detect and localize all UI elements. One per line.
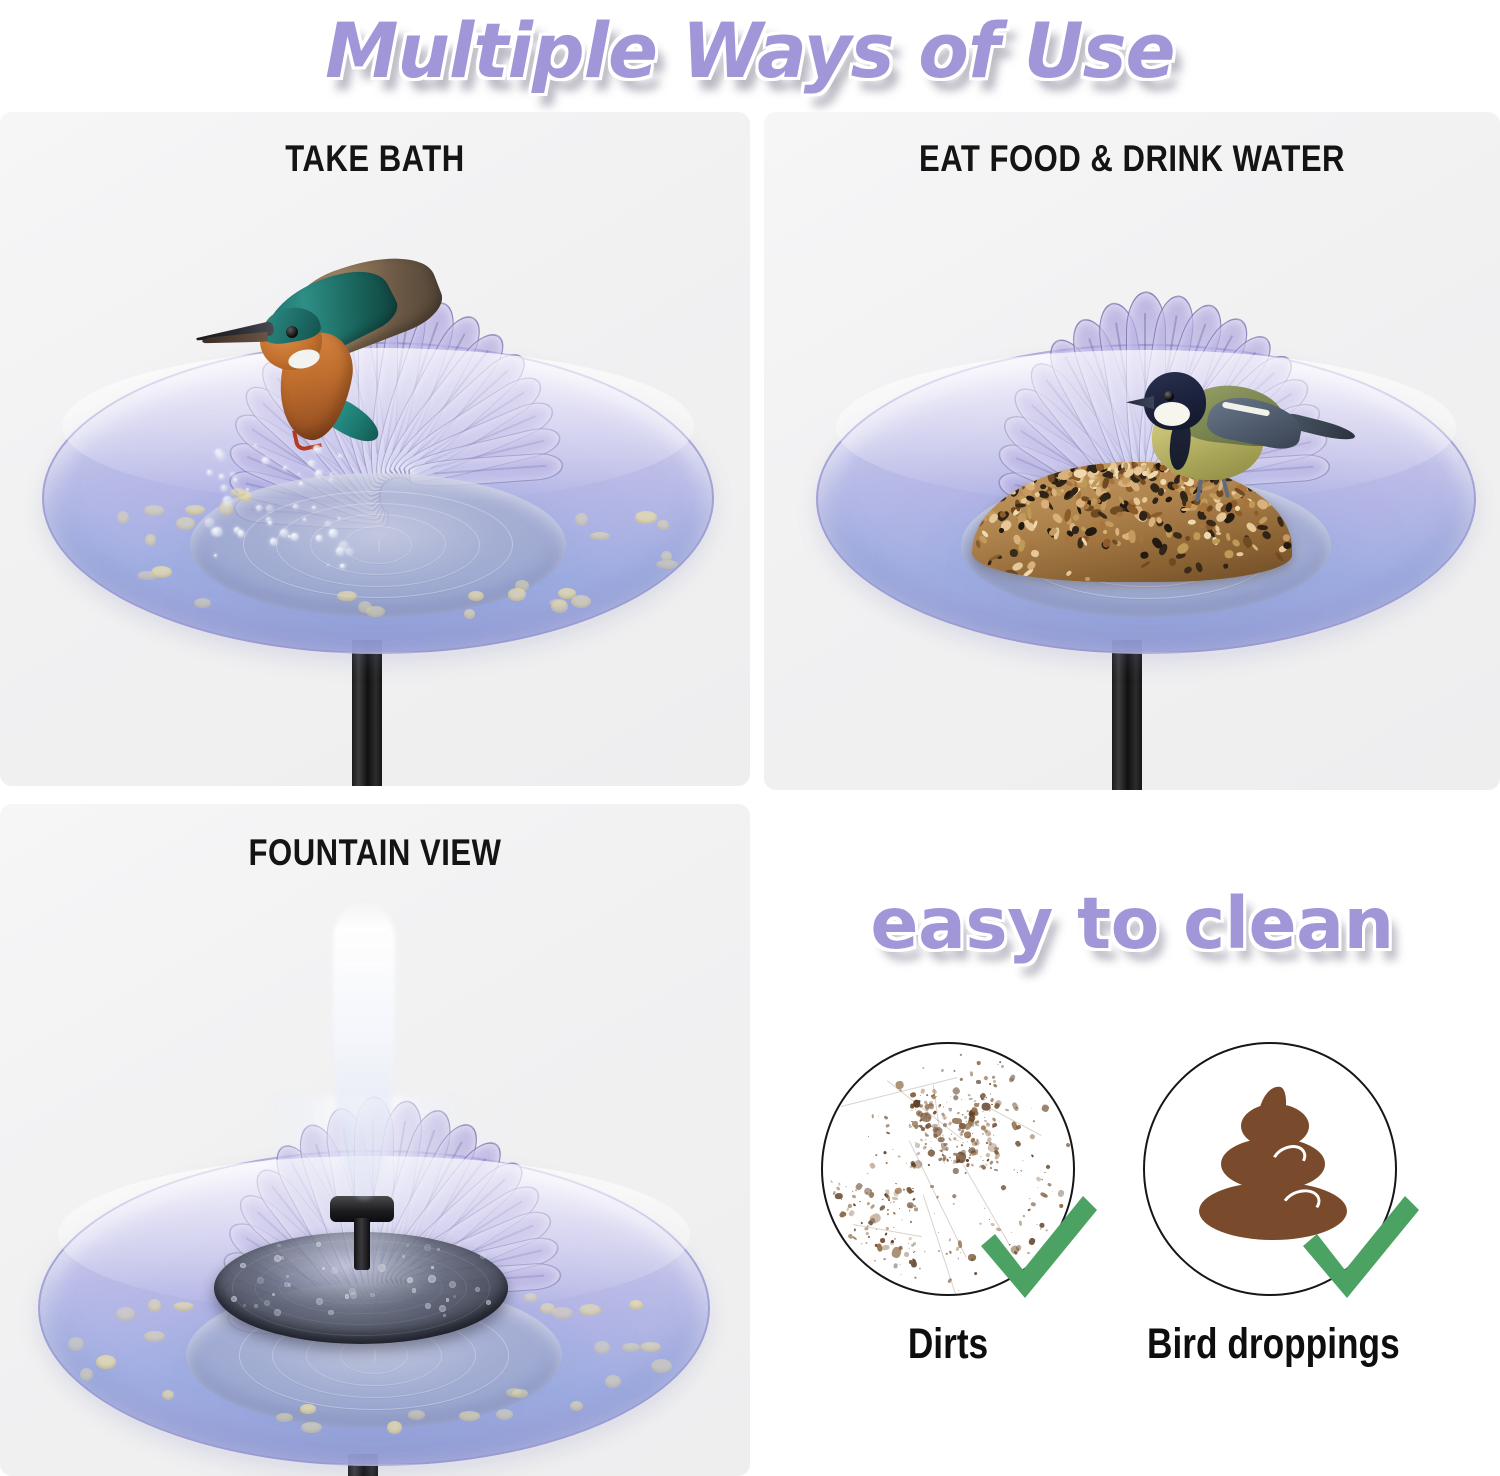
dirt-speck [951, 1193, 957, 1199]
dirt-speck [934, 1213, 935, 1214]
bowl-pebble [301, 1422, 322, 1433]
dirt-speck [994, 1083, 999, 1087]
seed [1072, 513, 1080, 521]
dirt-speck [830, 1181, 833, 1184]
dirt-speck [990, 1167, 992, 1169]
dirt-speck [893, 1263, 898, 1269]
seed [1071, 525, 1079, 534]
dirt-speck [952, 1152, 959, 1156]
dirt-speck [991, 1125, 994, 1128]
dirt-speck [1022, 1160, 1024, 1162]
dirt-speck [970, 1071, 974, 1076]
dirt-speck [924, 1251, 925, 1253]
dirt-speck [982, 1133, 984, 1135]
dirt-speck [864, 1241, 867, 1244]
dirt-speck [880, 1238, 886, 1244]
dirt-speck [972, 1133, 974, 1135]
dirt-speck [912, 1198, 916, 1202]
dirt-speck [848, 1210, 855, 1217]
water-droplet [338, 517, 340, 519]
dirt-speck [977, 1061, 981, 1065]
bowl-pebble [657, 520, 669, 530]
bowl-pebble [661, 551, 672, 562]
dirt-speck [953, 1070, 956, 1073]
water-droplet [217, 452, 226, 461]
dirt-speck [874, 1259, 876, 1261]
dirt-speck [919, 1268, 921, 1270]
dirt-scratch [922, 1194, 957, 1294]
seed [1116, 511, 1124, 517]
dirt-speck [960, 1053, 963, 1055]
bowl-pebble [194, 598, 211, 608]
bowl-pebble [551, 600, 568, 613]
water-bubble [350, 1292, 357, 1299]
dirt-speck [983, 1116, 985, 1118]
bowl-pebble [579, 1304, 601, 1316]
dirt-speck [993, 1135, 994, 1136]
dirt-speck [951, 1086, 961, 1096]
bowl-pebble [358, 601, 372, 613]
dirt-speck [838, 1183, 841, 1186]
water-droplet [283, 466, 287, 470]
seed [1095, 486, 1102, 495]
dirt-speck [860, 1243, 862, 1245]
dirt-speck [898, 1155, 901, 1158]
page-title-text: Multiple Ways of Use [325, 6, 1174, 95]
seed [1051, 511, 1064, 524]
bowl-pebble [68, 1337, 84, 1351]
dirt-speck [922, 1067, 925, 1070]
dirt-speck [899, 1273, 901, 1275]
dirt-speck [920, 1095, 921, 1096]
seed [1198, 523, 1204, 529]
clean-label-dirts: Dirts [825, 1320, 1071, 1369]
bowl-pebble [496, 1409, 513, 1420]
dirt-speck [1044, 1172, 1046, 1173]
dirt-speck [899, 1208, 900, 1209]
dirt-speck [1031, 1108, 1032, 1109]
dirt-speck [948, 1121, 953, 1126]
water-bubble [240, 1263, 246, 1269]
seed [1216, 532, 1222, 536]
seed [1265, 551, 1274, 557]
dirt-speck [868, 1191, 875, 1199]
dirt-speck [866, 1173, 868, 1175]
seed [1091, 535, 1100, 544]
scene-fountain-view [0, 804, 750, 1476]
dirt-speck [909, 1237, 912, 1240]
dirt-speck [841, 1199, 842, 1200]
dirt-speck [1032, 1119, 1035, 1122]
dirt-speck [941, 1069, 944, 1072]
seed [1114, 528, 1119, 536]
dirt-speck [924, 1132, 927, 1136]
dirt-speck [887, 1209, 889, 1211]
bowl-pebble [629, 1300, 642, 1310]
dirt-speck [903, 1251, 909, 1257]
dirt-speck [950, 1096, 951, 1097]
dirt-speck [983, 1075, 988, 1080]
seed [1225, 533, 1231, 542]
dirt-speck [969, 1157, 971, 1159]
dirt-speck [853, 1229, 855, 1233]
water-droplet [312, 506, 315, 509]
dirt-speck [868, 1235, 870, 1237]
water-bubble [254, 1304, 258, 1308]
dirt-speck [908, 1243, 910, 1245]
dirt-speck [967, 1141, 969, 1143]
panel-title-eat-drink: EAT FOOD & DRINK WATER [823, 138, 1441, 180]
dirt-speck [963, 1116, 967, 1120]
panel-title-take-bath: TAKE BATH [60, 138, 690, 180]
dirt-speck [918, 1124, 922, 1127]
dirt-speck [957, 1290, 959, 1292]
clean-item-bird-droppings: Bird droppings [1120, 1042, 1420, 1369]
seed [1282, 534, 1291, 542]
water-droplet [270, 538, 277, 545]
bowl-pebble [575, 513, 589, 526]
water-droplet [338, 454, 342, 458]
dirt-speck [886, 1131, 891, 1134]
dirt-speck [951, 1160, 952, 1161]
dirt-speck [937, 1232, 939, 1233]
dirt-speck [882, 1198, 884, 1200]
dirt-speck [968, 1094, 971, 1097]
seed [1194, 532, 1201, 541]
scene-take-bath [0, 112, 750, 786]
seed [1009, 548, 1017, 557]
dirt-speck [927, 1134, 929, 1136]
seed [1139, 530, 1143, 543]
seed [1105, 520, 1115, 528]
bowl-pebble [524, 1293, 537, 1302]
dirt-speck [893, 1201, 896, 1204]
dirt-speck [901, 1219, 903, 1221]
seed [1237, 552, 1244, 557]
dirt-speck [945, 1101, 947, 1102]
bowl-pebble [551, 1307, 573, 1319]
water-droplet [330, 472, 334, 476]
dirt-speck [846, 1207, 849, 1211]
bowl-pebble [558, 588, 576, 599]
seed [1195, 562, 1204, 573]
water-droplet [234, 478, 237, 481]
dirt-speck [908, 1247, 910, 1249]
seed [1018, 540, 1026, 553]
water-droplet [205, 518, 214, 527]
dirt-speck [878, 1116, 879, 1118]
bowl-pebble [387, 1421, 402, 1434]
dirt-speck [845, 1185, 847, 1187]
seed [1251, 544, 1259, 552]
seed [998, 527, 1004, 532]
dirt-speck [852, 1190, 853, 1192]
dirt-speck [915, 1277, 917, 1279]
dirt-speck [1011, 1101, 1019, 1111]
dirt-speck [836, 1186, 841, 1191]
page-title: Multiple Ways of Use [0, 0, 1500, 100]
dirt-speck [946, 1253, 948, 1255]
dirt-speck [1045, 1164, 1051, 1170]
dirt-speck [976, 1080, 981, 1084]
dirt-speck [926, 1094, 928, 1096]
great-tit-cheek-patch [1154, 402, 1190, 426]
bowl-pebble [464, 609, 475, 619]
dirt-speck [865, 1228, 869, 1231]
bowl-pebble [408, 1410, 426, 1419]
seed [1183, 565, 1193, 574]
dirt-speck [851, 1194, 856, 1198]
dirt-speck [871, 1115, 873, 1119]
seed [1212, 538, 1221, 545]
bowl-pebble [162, 1390, 174, 1400]
water-bubble [328, 1310, 334, 1316]
water-bubble [316, 1298, 323, 1305]
dirt-speck [982, 1160, 984, 1161]
dirt-speck [910, 1103, 914, 1108]
bowl-pebble [96, 1355, 116, 1369]
dirt-speck [1005, 1108, 1009, 1111]
dirt-speck [868, 1136, 870, 1137]
water-bubble [412, 1288, 416, 1292]
dirt-speck [996, 1160, 999, 1163]
dirt-speck [893, 1237, 895, 1239]
great-tit-eye [1164, 391, 1174, 401]
dirt-speck [969, 1098, 973, 1100]
dirt-speck [1000, 1185, 1007, 1192]
dirt-speck [927, 1115, 929, 1118]
bowl-pebble [459, 1411, 481, 1420]
dirt-speck [949, 1157, 951, 1158]
water-bubble [428, 1275, 436, 1283]
green-check-icon [975, 1194, 1101, 1300]
water-droplet [266, 505, 273, 512]
seed [1085, 577, 1090, 581]
seed [1261, 530, 1272, 541]
dirt-speck [1031, 1154, 1034, 1158]
bowl-pebble [176, 517, 196, 531]
bowl-pebble [144, 505, 164, 515]
green-check-icon [1297, 1194, 1423, 1300]
dirt-speck [990, 1104, 993, 1106]
seed [1128, 530, 1136, 543]
dirt-speck [960, 1078, 964, 1082]
clean-label-bird-droppings: Bird droppings [1147, 1320, 1393, 1369]
water-bubble [439, 1305, 446, 1312]
bowl-pebble [173, 1302, 194, 1311]
dirt-speck [910, 1110, 912, 1112]
water-droplet [280, 529, 288, 537]
dirt-speck [989, 1160, 994, 1165]
water-droplet [262, 457, 269, 464]
dirt-speck [925, 1139, 927, 1141]
water-droplet [221, 485, 227, 491]
dirt-speck [892, 1148, 894, 1149]
seed [1230, 538, 1240, 548]
dirt-speck [944, 1142, 948, 1145]
water-bubble [272, 1293, 275, 1296]
dirt-speck [1037, 1187, 1039, 1188]
seed [975, 540, 981, 549]
seed [1140, 551, 1149, 558]
dirt-speck [1041, 1103, 1050, 1112]
bowl-pebble [651, 1359, 672, 1373]
bowl-pebble [508, 588, 526, 600]
seed [1173, 531, 1183, 539]
dirt-speck [870, 1204, 876, 1210]
dirt-speck [998, 1121, 1000, 1123]
dirt-speck [957, 1140, 959, 1141]
dirt-speck [1047, 1183, 1052, 1188]
bowl-pebble [117, 511, 129, 523]
seed [987, 565, 995, 569]
dirt-speck [914, 1143, 920, 1149]
seed [1258, 515, 1268, 524]
water-bubble [274, 1309, 280, 1315]
easy-clean-title: easy to clean [764, 882, 1500, 965]
seed [1140, 561, 1151, 569]
bowl-pebble [116, 1307, 135, 1320]
dirt-speck [985, 1097, 988, 1100]
seed [1081, 495, 1089, 501]
seed [1222, 563, 1229, 569]
dirt-speck [965, 1158, 969, 1162]
bowl-pebble [622, 1343, 640, 1352]
dirt-speck [971, 1164, 974, 1167]
dirt-speck [885, 1189, 890, 1195]
bowl-pebble [468, 591, 485, 602]
water-droplet [315, 470, 322, 477]
bowl-pebble [151, 566, 173, 579]
dirt-speck [913, 1251, 916, 1254]
dirt-speck [930, 1141, 932, 1143]
dirt-speck [943, 1106, 945, 1108]
water-droplet [266, 517, 271, 522]
easy-clean-section: easy to clean Dirts [764, 804, 1500, 1476]
dirt-speck [860, 1221, 862, 1223]
dirt-speck [869, 1162, 876, 1170]
bowl-pebble [145, 534, 157, 547]
seed [1253, 511, 1258, 516]
dirt-speck [990, 1093, 992, 1095]
water-droplet [308, 460, 315, 467]
bowl-pebble [276, 1413, 293, 1421]
bowl-pebble [148, 1299, 161, 1311]
scene-eat-drink [764, 112, 1500, 790]
dirt-speck [993, 1169, 997, 1172]
dirt-speck [952, 1094, 959, 1101]
dirt-speck [892, 1211, 896, 1215]
dirt-speck [960, 1252, 962, 1254]
dirt-speck [997, 1064, 999, 1065]
seed [1030, 549, 1040, 558]
dirt-speck [886, 1162, 888, 1164]
dirt-speck [894, 1182, 896, 1184]
bowl-pebble [594, 1341, 609, 1354]
water-droplet [291, 533, 298, 540]
dirt-speck [894, 1187, 902, 1194]
dirt-speck [980, 1155, 982, 1157]
dirt-speckles-circle-icon [821, 1042, 1075, 1296]
seed [1108, 477, 1116, 485]
dirt-speck [875, 1154, 878, 1157]
dirt-speck [885, 1232, 888, 1235]
bowl-pebble [144, 1331, 165, 1343]
dirt-speck [992, 1080, 996, 1084]
dirt-speck [1017, 1172, 1019, 1173]
dirt-speck [903, 1189, 905, 1192]
dirt-speck [914, 1207, 918, 1212]
dirt-speck [974, 1102, 979, 1107]
dirt-speck [1014, 1139, 1022, 1147]
seed [1168, 557, 1176, 565]
dirt-speck [892, 1196, 898, 1200]
bowl-pebble [640, 1342, 661, 1353]
seed [1015, 503, 1026, 508]
bowl-pebble [590, 532, 610, 541]
water-droplet [234, 527, 240, 533]
water-droplet [303, 518, 306, 521]
water-bubble [475, 1287, 480, 1292]
seed [1040, 484, 1046, 490]
dirt-speck [898, 1264, 900, 1266]
bowl-pebble [635, 511, 657, 523]
dirt-speck [848, 1203, 853, 1208]
dirt-speck [893, 1227, 895, 1229]
water-droplet [329, 529, 336, 536]
dirt-speck [1036, 1175, 1042, 1181]
poop-circle-icon [1143, 1042, 1397, 1296]
water-bubble [425, 1303, 431, 1309]
bowl-pebble [185, 505, 205, 515]
birdbath-pole [1112, 640, 1142, 790]
dirt-speck [890, 1201, 891, 1203]
dirt-speck [887, 1212, 890, 1215]
dirt-speck [962, 1113, 964, 1115]
seed [1181, 507, 1190, 510]
panel-title-fountain-view: FOUNTAIN VIEW [60, 832, 690, 874]
dirt-speck [999, 1060, 1002, 1063]
dirt-speck [961, 1144, 963, 1146]
seed [1040, 499, 1049, 509]
dirt-speck [1020, 1170, 1022, 1172]
dirt-speck [906, 1163, 907, 1164]
dirt-speck [975, 1124, 979, 1127]
birdbath-pole [352, 640, 382, 786]
dirt-speck [966, 1163, 970, 1168]
dirt-speck [985, 1153, 990, 1158]
water-bubble [486, 1300, 491, 1305]
water-bubble [480, 1253, 486, 1259]
bowl-pebble [605, 1375, 621, 1388]
dirt-speck [951, 1134, 952, 1135]
dirt-speck [948, 1137, 952, 1141]
dirt-speck [1029, 1133, 1036, 1140]
dirt-speck [957, 1257, 959, 1260]
seed [1077, 472, 1086, 479]
dirt-speck [989, 1110, 991, 1112]
dirt-speck [883, 1257, 886, 1260]
great-tit-bird [1124, 364, 1354, 504]
dirt-speck [922, 1145, 927, 1150]
panel-eat-drink: EAT FOOD & DRINK WATER [764, 112, 1500, 790]
seed [1027, 506, 1032, 519]
dirt-speck [912, 1120, 918, 1126]
dirt-speck [1052, 1190, 1054, 1192]
seed [1274, 552, 1284, 563]
dirt-speck [920, 1138, 923, 1141]
panel-fountain-view: FOUNTAIN VIEW [0, 804, 750, 1476]
